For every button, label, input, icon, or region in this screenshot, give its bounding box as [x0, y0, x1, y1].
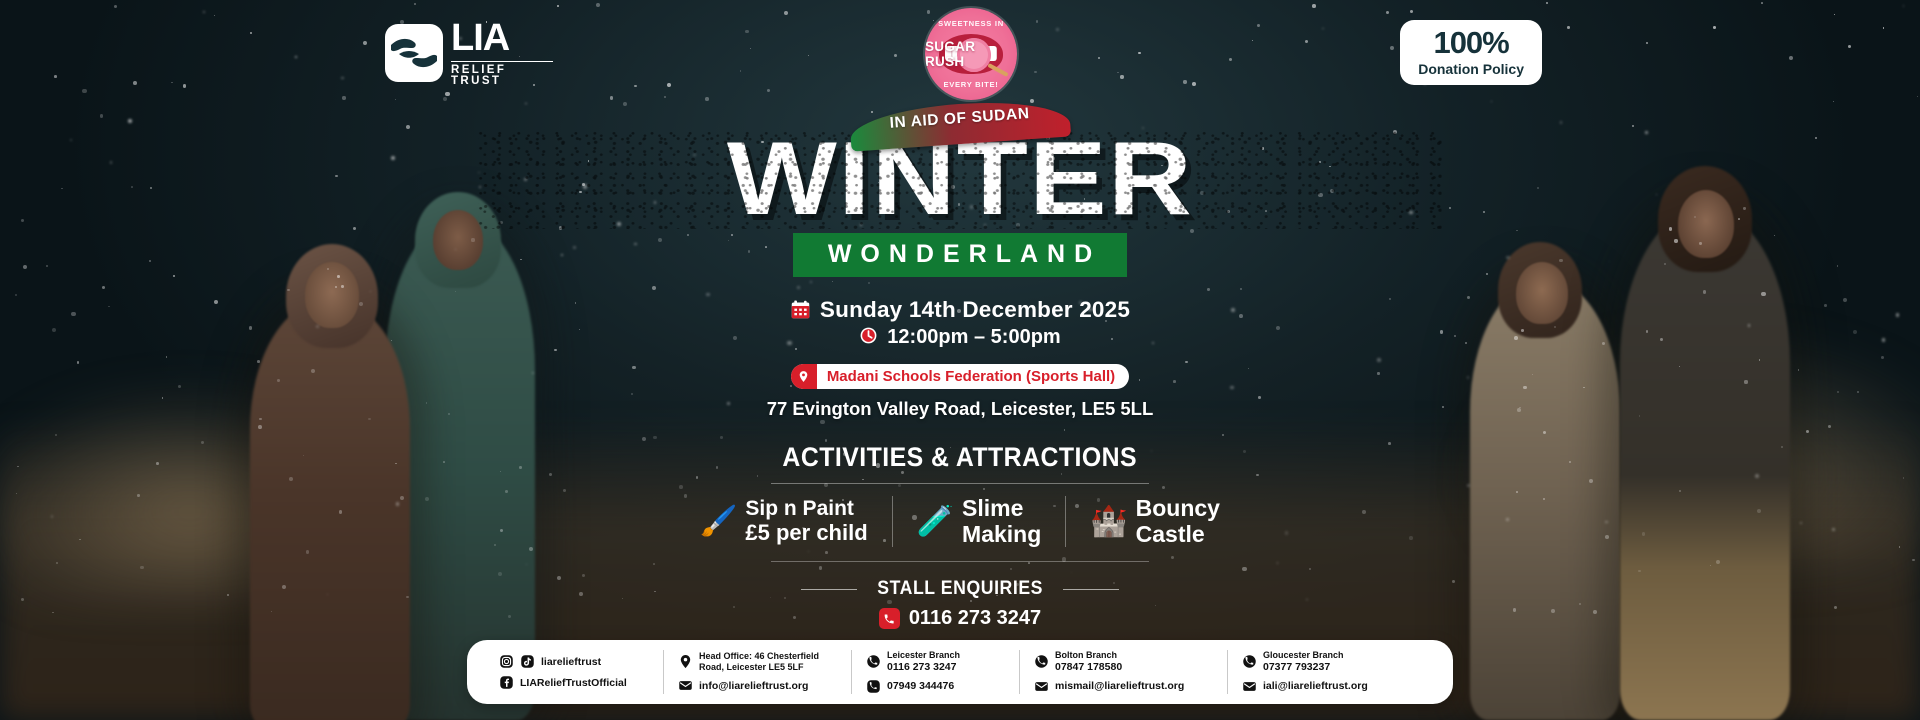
photo-children-right: [1500, 0, 1920, 720]
snowflake: [1491, 101, 1492, 102]
calendar-icon: [790, 299, 811, 320]
snowflake: [1098, 57, 1100, 59]
snowflake: [784, 11, 788, 15]
stall-enquiries-heading: STALL ENQUIRIES: [877, 578, 1043, 600]
location-pin-icon: [791, 364, 817, 389]
footer-column-leicester-branch: Leicester Branch 0116 273 3247 07949 344…: [851, 650, 1019, 694]
snowflake: [1229, 58, 1232, 61]
donation-label: Donation Policy: [1418, 62, 1524, 76]
bouncy-castle-icon: 🏰: [1090, 507, 1127, 537]
snowflake: [1030, 99, 1034, 103]
snowflake: [1120, 75, 1123, 78]
snowflake: [1483, 211, 1485, 213]
gloucester-branch-phone: 07377 793237: [1263, 661, 1344, 673]
lia-logo-name: LIA: [451, 19, 553, 57]
leicester-branch-secondary-row[interactable]: 07949 344476: [866, 679, 1005, 694]
child-figure-girl-shawl: [250, 300, 410, 720]
bolton-branch-label: Bolton Branch: [1055, 650, 1122, 660]
child-face-boy-shirt: [1678, 190, 1734, 258]
venue-badge: Madani Schools Federation (Sports Hall): [791, 364, 1129, 389]
child-face-boy-green: [433, 210, 483, 270]
activity-line1: Bouncy: [1136, 496, 1220, 522]
hero-subtitle: WONDERLAND: [819, 240, 1101, 268]
venue-name: Madani Schools Federation (Sports Hall): [817, 368, 1115, 385]
lia-relief-trust-logo: LIA RELIEF TRUST: [385, 22, 553, 84]
bolton-branch-phone-row[interactable]: Bolton Branch 07847 178580: [1034, 650, 1213, 673]
activity-line2: Making: [962, 522, 1041, 548]
sponsor-bottom-text: EVERY BITE!: [925, 80, 1017, 89]
snowflake: [610, 96, 614, 100]
snowflake: [1117, 72, 1118, 73]
snowflake: [1440, 330, 1444, 334]
snowflake: [1034, 71, 1037, 74]
snowflake: [1192, 82, 1196, 86]
snowflake: [1390, 46, 1394, 50]
snowflake: [664, 96, 666, 98]
snowflake: [740, 70, 742, 72]
footer-column-head-office: Head Office: 46 Chesterfield Road, Leice…: [663, 650, 851, 694]
activity-item: 🏰 Bouncy Castle: [1065, 496, 1244, 548]
stall-enquiries-heading-row: STALL ENQUIRIES: [530, 578, 1390, 600]
leicester-branch-primary-row[interactable]: Leicester Branch 0116 273 3247: [866, 650, 1005, 673]
winter-wonderland-banner: LIA RELIEF TRUST SWEETNESS IN SUGAR RUSH…: [0, 0, 1920, 720]
snowflake: [1138, 52, 1140, 54]
event-when: Sunday 14th December 2025 12:00pm – 5:00…: [530, 297, 1390, 349]
snowflake: [1442, 406, 1444, 408]
gloucester-branch-email: iali@liarelieftrust.org: [1263, 680, 1368, 692]
social-handle-instagram: liarelieftrust: [541, 656, 601, 668]
envelope-icon: [678, 678, 693, 693]
snowflake: [808, 55, 809, 56]
event-date: Sunday 14th December 2025: [820, 297, 1130, 323]
slime-cup-icon: 🧪: [917, 507, 954, 537]
snowflake: [750, 48, 751, 49]
child-face-boy-blanket: [1516, 262, 1568, 324]
main-content: IN AID OF SUDAN WINTER WONDERLAND: [530, 104, 1390, 630]
social-handle-row[interactable]: LIAReliefTrustOfficial: [499, 675, 649, 690]
sponsor-name: SUGAR RUSH: [925, 39, 1017, 69]
sponsor-top-text: SWEETNESS IN: [925, 19, 1017, 28]
activity-line2: £5 per child: [745, 521, 867, 546]
event-time: 12:00pm – 5:00pm: [887, 326, 1060, 349]
snowflake: [927, 10, 930, 13]
lia-logo-subtitle: RELIEF TRUST: [451, 61, 553, 88]
activity-item: 🖌️ Sip n Paint £5 per child: [676, 496, 892, 548]
phone-circle-icon: [866, 679, 881, 694]
activity-line1: Slime: [962, 496, 1041, 522]
phone-ring-icon: [1034, 654, 1049, 669]
envelope-icon: [1242, 679, 1257, 694]
lia-hands-icon: [385, 24, 443, 82]
footer-column-social: liarelieftrust LIAReliefTrustOfficial: [485, 650, 663, 694]
snowflake: [1305, 40, 1308, 43]
snowflake: [894, 54, 898, 58]
leicester-branch-label: Leicester Branch: [887, 650, 960, 660]
snowflake: [705, 97, 709, 101]
paintbrush-icon: 🖌️: [700, 507, 737, 537]
stall-rule-right: [1063, 589, 1119, 590]
clock-icon: [859, 326, 878, 345]
activity-line1: Sip n Paint: [745, 497, 867, 521]
snowflake: [1312, 4, 1316, 8]
head-office-email: info@liarelieftrust.org: [699, 680, 808, 692]
phone-ring-icon: [866, 654, 881, 669]
snowflake: [1252, 40, 1253, 41]
child-figure-boy-blanket: [1470, 280, 1620, 720]
snowflake: [443, 97, 447, 101]
donation-policy-badge: 100% Donation Policy: [1400, 20, 1542, 85]
contact-footer-bar: liarelieftrust LIAReliefTrustOfficial: [467, 640, 1453, 704]
facebook-icon[interactable]: [499, 675, 514, 690]
snowflake: [1056, 28, 1059, 31]
gloucester-branch-phone-row[interactable]: Gloucester Branch 07377 793237: [1242, 650, 1409, 673]
footer-column-bolton-branch: Bolton Branch 07847 178580 mismail@liare…: [1019, 650, 1227, 694]
snowflake: [1322, 28, 1323, 29]
snowflake: [1036, 20, 1038, 22]
child-face-girl-shawl: [305, 262, 359, 328]
event-date-row: Sunday 14th December 2025: [530, 297, 1390, 323]
snowflake: [1410, 10, 1413, 13]
envelope-icon: [1034, 679, 1049, 694]
head-office-address: Head Office: 46 Chesterfield Road, Leice…: [699, 651, 837, 672]
snowflake: [557, 5, 559, 7]
gloucester-branch-email-row[interactable]: iali@liarelieftrust.org: [1242, 679, 1409, 694]
footer-column-gloucester-branch: Gloucester Branch 07377 793237 iali@liar…: [1227, 650, 1423, 694]
snowflake: [445, 92, 449, 96]
leicester-branch-phone-2: 07949 344476: [887, 680, 954, 692]
tiktok-icon[interactable]: [520, 654, 535, 669]
activities-divider-top: [771, 483, 1149, 484]
stall-phone-row[interactable]: 0116 273 3247: [530, 607, 1390, 630]
snowflake: [1454, 335, 1457, 338]
leicester-branch-phone-1: 0116 273 3247: [887, 661, 960, 673]
snowflake: [634, 85, 637, 88]
snowflake: [1257, 24, 1260, 27]
event-address: 77 Evington Valley Road, Leicester, LE5 …: [530, 398, 1390, 420]
head-office-address-row: Head Office: 46 Chesterfield Road, Leice…: [678, 651, 837, 672]
snowflake: [667, 83, 671, 87]
hero-title: WINTER: [478, 130, 1441, 229]
snowflake: [1386, 11, 1389, 14]
snowflake: [745, 30, 748, 33]
bolton-branch-email-row[interactable]: mismail@liarelieftrust.org: [1034, 679, 1213, 694]
snowflake: [525, 103, 526, 104]
activity-item: 🧪 Slime Making: [892, 496, 1066, 548]
snowflake: [596, 3, 600, 7]
activity-line2: Castle: [1136, 522, 1220, 548]
instagram-icon[interactable]: [499, 654, 514, 669]
event-time-row: 12:00pm – 5:00pm: [530, 323, 1390, 349]
activities-divider-bottom: [771, 561, 1149, 562]
donation-percent: 100%: [1418, 27, 1524, 58]
activities-list: 🖌️ Sip n Paint £5 per child 🧪 Slime Maki…: [530, 496, 1390, 548]
sugar-rush-sponsor-logo: SWEETNESS IN SUGAR RUSH EVERY BITE!: [925, 8, 1017, 100]
bolton-branch-phone: 07847 178580: [1055, 661, 1122, 673]
bolton-branch-email: mismail@liarelieftrust.org: [1055, 680, 1184, 692]
phone-ring-icon: [1242, 654, 1257, 669]
ribbon-text: IN AID OF SUDAN: [889, 105, 1030, 133]
child-figure-boy-shirt: [1620, 210, 1790, 720]
activities-heading: ACTIVITIES & ATTRACTIONS: [783, 442, 1138, 473]
social-handle-row[interactable]: liarelieftrust: [499, 654, 649, 669]
snowflake: [1467, 296, 1470, 299]
snowflake: [767, 89, 770, 92]
photo-children-left: [0, 0, 420, 720]
head-office-email-row[interactable]: info@liarelieftrust.org: [678, 678, 837, 693]
phone-icon: [879, 608, 900, 629]
stall-phone-number: 0116 273 3247: [909, 607, 1041, 630]
snowflake: [1183, 80, 1186, 83]
location-pin-icon: [678, 654, 693, 669]
snowflake: [520, 259, 522, 261]
gloucester-branch-label: Gloucester Branch: [1263, 650, 1344, 660]
social-handle-facebook: LIAReliefTrustOfficial: [520, 677, 627, 689]
snowflake: [1449, 207, 1451, 209]
stall-rule-left: [801, 589, 857, 590]
snowflake: [1486, 273, 1488, 275]
hero-subtitle-bar: WONDERLAND: [793, 233, 1127, 277]
